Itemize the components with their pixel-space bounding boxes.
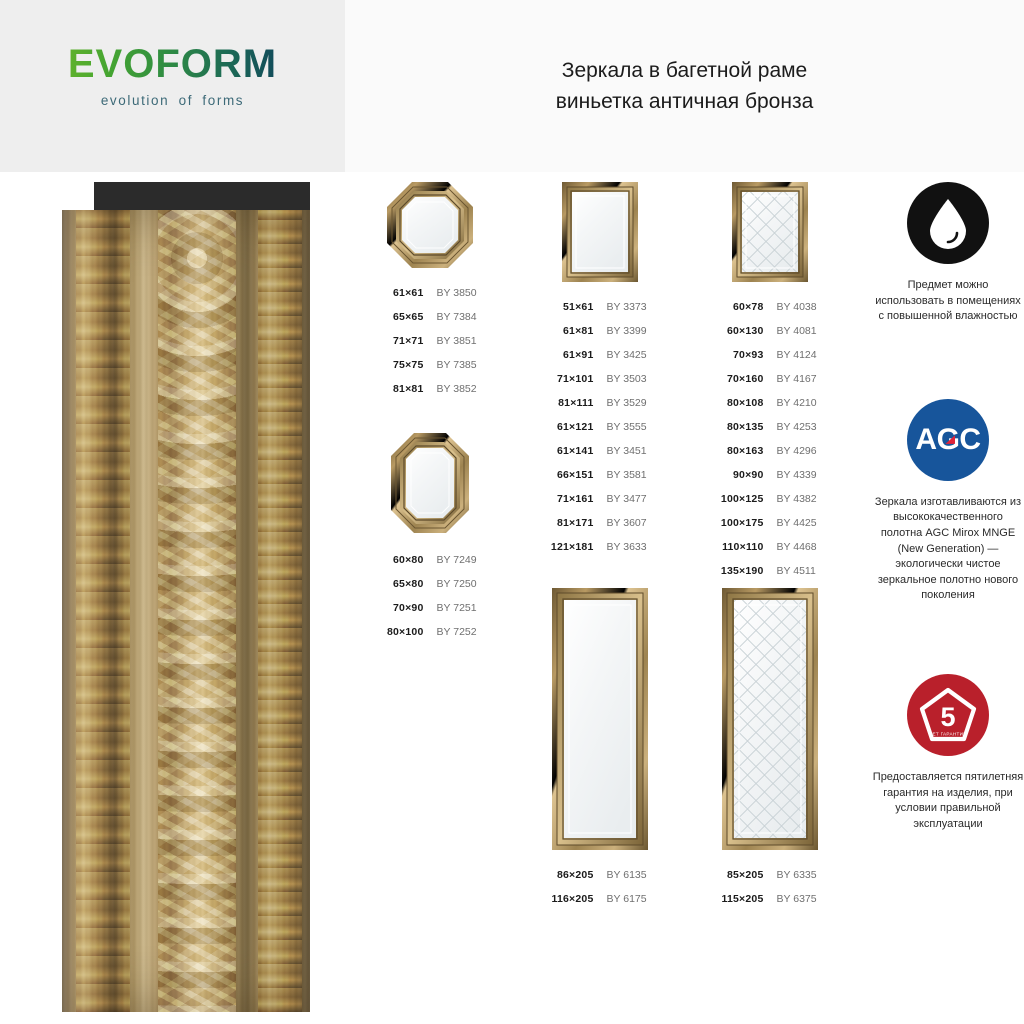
page-title-line-2: виньетка античная бронза — [556, 86, 814, 118]
size-dimension: 66×151 — [536, 469, 594, 481]
warranty-pentagon-glyph: 5 ЛЕТ ГАРАНТИИ — [917, 684, 979, 746]
svg-text:ЛЕТ ГАРАНТИИ: ЛЕТ ГАРАНТИИ — [929, 732, 967, 737]
size-list-item-row: 65×80 BY 7250 — [345, 578, 515, 602]
size-article-code: BY 4425 — [764, 517, 835, 529]
size-dimension: 135×190 — [706, 565, 764, 577]
water-drop-glyph — [926, 197, 970, 249]
size-dimension: 81×111 — [536, 397, 594, 409]
size-article-code: BY 3373 — [594, 301, 665, 313]
size-dimension: 86×205 — [536, 869, 594, 881]
svg-text:5: 5 — [940, 702, 955, 732]
size-list-item-row: 61×91 BY 3425 — [515, 349, 685, 373]
size-dimension: 61×91 — [536, 349, 594, 361]
size-list-rectangle-engraved: 60×78 BY 4038 60×130 BY 4081 70×93 BY 41… — [685, 301, 855, 589]
size-list-item-row: 61×141 BY 3451 — [515, 445, 685, 469]
size-article-code: BY 3399 — [594, 325, 665, 337]
page-header: EVOFORM evolution of forms Зеркала в баг… — [0, 0, 1024, 172]
size-dimension: 60×130 — [706, 325, 764, 337]
size-dimension: 115×205 — [706, 893, 764, 905]
size-dimension: 65×80 — [366, 578, 424, 590]
size-dimension: 61×81 — [536, 325, 594, 337]
tall-rectangle-mirror-thumbnail[interactable] — [552, 588, 648, 855]
size-dimension: 116×205 — [536, 893, 594, 905]
agc-wordmark: AGC — [915, 423, 980, 457]
photo-corner-notch — [62, 182, 94, 212]
size-list-item-row: 110×110 BY 4468 — [685, 541, 855, 565]
size-article-code: BY 3529 — [594, 397, 665, 409]
size-list-item-row: 60×80 BY 7249 — [345, 554, 515, 578]
size-list-item-row: 80×135 BY 4253 — [685, 421, 855, 445]
size-dimension: 70×160 — [706, 373, 764, 385]
size-article-code: BY 4511 — [764, 565, 835, 577]
size-list-item-row: 116×205 BY 6175 — [515, 893, 685, 917]
brand-logo: EVOFORM evolution of forms — [60, 44, 285, 108]
size-dimension: 85×205 — [706, 869, 764, 881]
size-dimension: 80×135 — [706, 421, 764, 433]
size-article-code: BY 3451 — [594, 445, 665, 457]
size-list-item-row: 80×100 BY 7252 — [345, 626, 515, 650]
size-dimension: 81×81 — [366, 383, 424, 395]
size-article-code: BY 3607 — [594, 517, 665, 529]
column-rectangle-engraved: 60×78 BY 4038 60×130 BY 4081 70×93 BY 41… — [685, 182, 855, 589]
size-list-tall-plain: 86×205 BY 6135 116×205 BY 6175 — [515, 869, 685, 917]
size-dimension: 121×181 — [536, 541, 594, 553]
size-dimension: 80×163 — [706, 445, 764, 457]
size-dimension: 60×80 — [366, 554, 424, 566]
five-year-warranty-icon: 5 ЛЕТ ГАРАНТИИ — [907, 674, 989, 756]
badge-2: AGC Зеркала изготавливаются из высококач… — [872, 399, 1024, 604]
size-article-code: BY 7250 — [424, 578, 495, 590]
brand-name: EVOFORM — [60, 44, 285, 84]
size-article-code: BY 6175 — [594, 893, 665, 905]
size-list-item-row: 100×125 BY 4382 — [685, 493, 855, 517]
size-list-item-row: 90×90 BY 4339 — [685, 469, 855, 493]
size-list-item-row: 61×61 BY 3850 — [345, 287, 515, 311]
size-list-octagon-square: 61×61 BY 3850 65×65 BY 7384 71×71 BY 385… — [345, 287, 515, 407]
size-list-item-row: 70×93 BY 4124 — [685, 349, 855, 373]
size-article-code: BY 6375 — [764, 893, 835, 905]
badge-description: Зеркала изготавливаются из высококачеств… — [872, 495, 1024, 604]
size-article-code: BY 7251 — [424, 602, 495, 614]
size-article-code: BY 3850 — [424, 287, 495, 299]
size-article-code: BY 3425 — [594, 349, 665, 361]
size-dimension: 81×171 — [536, 517, 594, 529]
size-list-item-row: 70×90 BY 7251 — [345, 602, 515, 626]
agc-logo-icon: AGC — [907, 399, 989, 481]
size-list-item-row: 65×65 BY 7384 — [345, 311, 515, 335]
feature-badges: Предмет можно использовать в помещениях … — [872, 182, 1024, 833]
water-drop-icon — [907, 182, 989, 264]
size-article-code: BY 7249 — [424, 554, 495, 566]
octagon-mirror-thumbnail[interactable] — [387, 182, 473, 273]
size-dimension: 61×61 — [366, 287, 424, 299]
size-article-code: BY 6335 — [764, 869, 835, 881]
moulding-gloss-overlay — [62, 210, 310, 1012]
size-article-code: BY 3633 — [594, 541, 665, 553]
header-logo-panel: EVOFORM evolution of forms — [0, 0, 345, 172]
size-article-code: BY 4253 — [764, 421, 835, 433]
size-article-code: BY 4081 — [764, 325, 835, 337]
size-list-item-row: 81×81 BY 3852 — [345, 383, 515, 407]
size-article-code: BY 4210 — [764, 397, 835, 409]
size-article-code: BY 4468 — [764, 541, 835, 553]
badge-description: Предоставляется пятилетняя гарантия на и… — [872, 770, 1024, 832]
size-list-item-row: 71×161 BY 3477 — [515, 493, 685, 517]
size-list-item-row: 75×75 BY 7385 — [345, 359, 515, 383]
tall-mirror-cell-2: 85×205 BY 6335 115×205 BY 6375 — [685, 588, 855, 917]
size-article-code: BY 4124 — [764, 349, 835, 361]
size-article-code: BY 3555 — [594, 421, 665, 433]
size-list-item-row: 80×108 BY 4210 — [685, 397, 855, 421]
size-dimension: 70×90 — [366, 602, 424, 614]
size-dimension: 80×100 — [366, 626, 424, 638]
size-article-code: BY 6135 — [594, 869, 665, 881]
size-article-code: BY 3503 — [594, 373, 665, 385]
badge-3: 5 ЛЕТ ГАРАНТИИ Предоставляется пятилетня… — [872, 674, 1024, 832]
size-dimension: 65×65 — [366, 311, 424, 323]
size-article-code: BY 7385 — [424, 359, 495, 371]
size-article-code: BY 3477 — [594, 493, 665, 505]
catalog-page: EVOFORM evolution of forms Зеркала в баг… — [0, 0, 1024, 1024]
size-dimension: 100×175 — [706, 517, 764, 529]
size-list-item-row: 61×81 BY 3399 — [515, 325, 685, 349]
column-octagon: 61×61 BY 3850 65×65 BY 7384 71×71 BY 385… — [345, 182, 515, 650]
size-dimension: 51×61 — [536, 301, 594, 313]
page-title-line-1: Зеркала в багетной раме — [562, 55, 807, 87]
size-list-item-row: 85×205 BY 6335 — [685, 869, 855, 893]
rectangle-mirror-thumbnail[interactable] — [562, 182, 638, 287]
size-article-code: BY 4296 — [764, 445, 835, 457]
size-list-tall-engraved: 85×205 BY 6335 115×205 BY 6375 — [685, 869, 855, 917]
page-title: Зеркала в багетной раме виньетка антична… — [345, 0, 1024, 172]
badge-1: Предмет можно использовать в помещениях … — [872, 182, 1024, 325]
size-list-octagon-tall: 60×80 BY 7249 65×80 BY 7250 70×90 BY 725… — [345, 554, 515, 650]
size-dimension: 60×78 — [706, 301, 764, 313]
size-dimension: 71×101 — [536, 373, 594, 385]
size-list-rectangle-plain: 51×61 BY 3373 61×81 BY 3399 61×91 BY 342… — [515, 301, 685, 565]
size-list-item-row: 80×163 BY 4296 — [685, 445, 855, 469]
size-list-item-row: 121×181 BY 3633 — [515, 541, 685, 565]
size-list-item-row: 61×121 BY 3555 — [515, 421, 685, 445]
size-list-item-row: 51×61 BY 3373 — [515, 301, 685, 325]
size-article-code: BY 3581 — [594, 469, 665, 481]
frame-moulding-photo — [62, 182, 310, 1012]
size-list-item-row: 86×205 BY 6135 — [515, 869, 685, 893]
size-article-code: BY 3852 — [424, 383, 495, 395]
size-dimension: 100×125 — [706, 493, 764, 505]
size-dimension: 75×75 — [366, 359, 424, 371]
size-article-code: BY 4339 — [764, 469, 835, 481]
size-article-code: BY 4167 — [764, 373, 835, 385]
size-dimension: 61×121 — [536, 421, 594, 433]
size-dimension: 71×161 — [536, 493, 594, 505]
rectangle-engraved-mirror-thumbnail[interactable] — [732, 182, 808, 287]
size-article-code: BY 4382 — [764, 493, 835, 505]
tall-mirror-cell-1: 86×205 BY 6135 116×205 BY 6175 — [515, 588, 685, 917]
size-article-code: BY 3851 — [424, 335, 495, 347]
size-list-item-row: 70×160 BY 4167 — [685, 373, 855, 397]
size-article-code: BY 4038 — [764, 301, 835, 313]
size-list-item-row: 100×175 BY 4425 — [685, 517, 855, 541]
size-dimension: 80×108 — [706, 397, 764, 409]
size-list-item-row: 135×190 BY 4511 — [685, 565, 855, 589]
size-dimension: 71×71 — [366, 335, 424, 347]
size-article-code: BY 7252 — [424, 626, 495, 638]
size-dimension: 61×141 — [536, 445, 594, 457]
agc-red-accent — [945, 435, 955, 444]
size-list-item-row: 81×171 BY 3607 — [515, 517, 685, 541]
size-list-item-row: 66×151 BY 3581 — [515, 469, 685, 493]
column-rectangle-plain: 51×61 BY 3373 61×81 BY 3399 61×91 BY 342… — [515, 182, 685, 565]
tall-rectangle-engraved-mirror-thumbnail[interactable] — [722, 588, 818, 855]
size-dimension: 90×90 — [706, 469, 764, 481]
brand-tagline: evolution of forms — [60, 93, 285, 108]
badge-description: Предмет можно использовать в помещениях … — [872, 278, 1024, 325]
size-list-item-row: 71×71 BY 3851 — [345, 335, 515, 359]
size-list-item-row: 60×130 BY 4081 — [685, 325, 855, 349]
size-list-item-row: 71×101 BY 3503 — [515, 373, 685, 397]
size-list-item-row: 115×205 BY 6375 — [685, 893, 855, 917]
octagon-tall-mirror-thumbnail[interactable] — [391, 433, 469, 538]
size-dimension: 70×93 — [706, 349, 764, 361]
size-list-item-row: 81×111 BY 3529 — [515, 397, 685, 421]
size-dimension: 110×110 — [706, 541, 764, 553]
size-article-code: BY 7384 — [424, 311, 495, 323]
size-list-item-row: 60×78 BY 4038 — [685, 301, 855, 325]
